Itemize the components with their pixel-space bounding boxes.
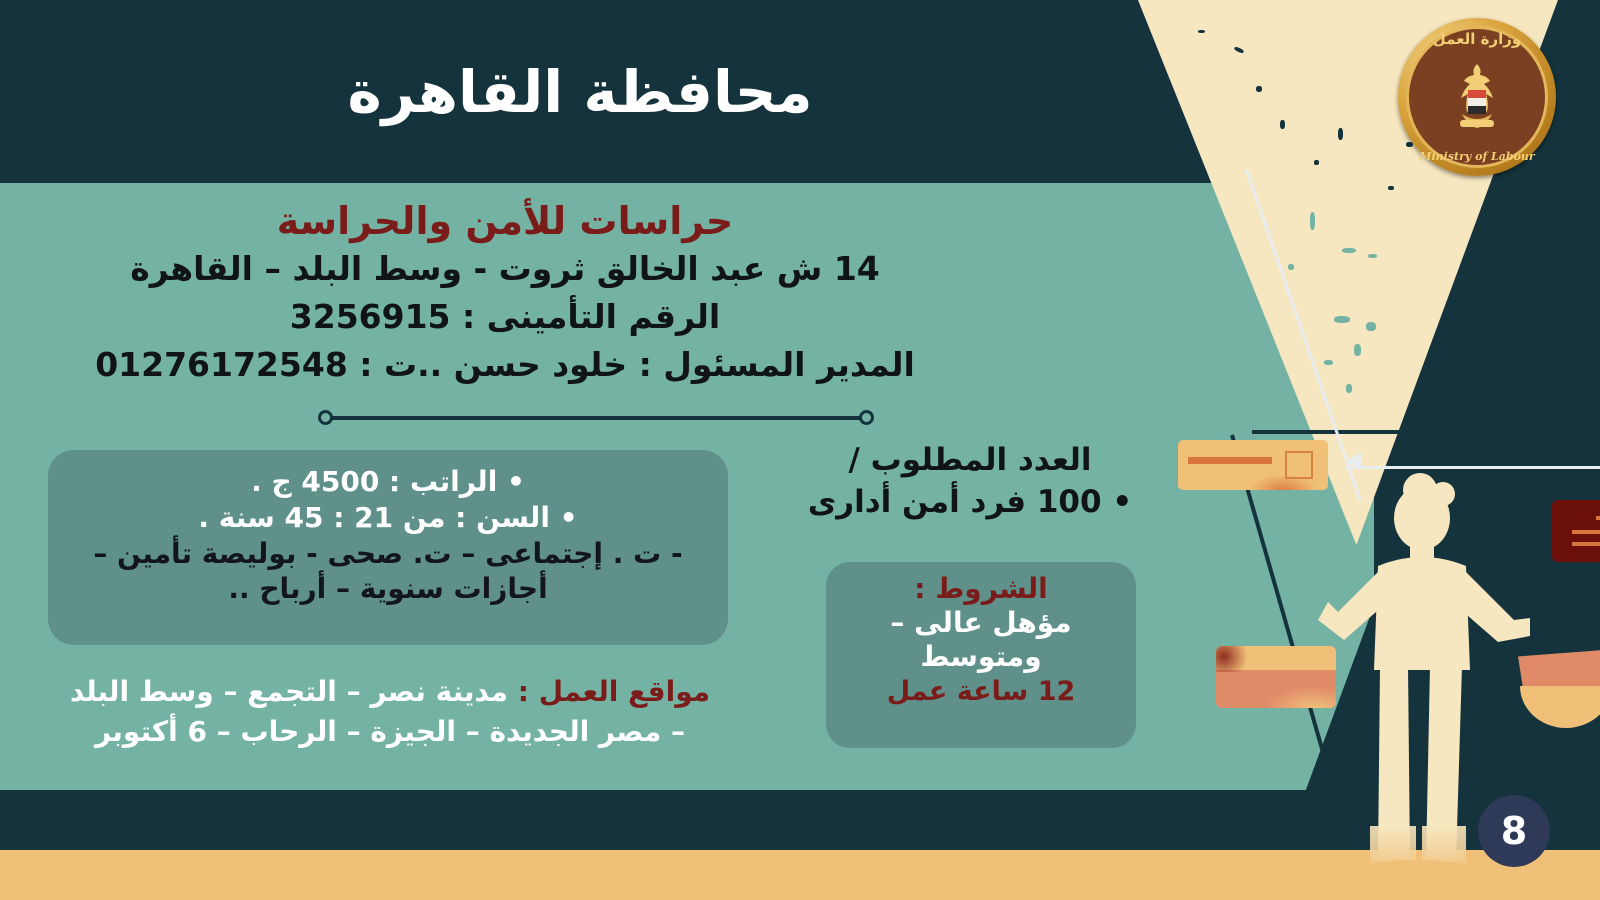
card-bar-icon bbox=[1188, 457, 1272, 464]
terms-box: الشروط : مؤهل عالى – ومتوسط 12 ساعة عمل bbox=[826, 562, 1136, 748]
card-speckle-texture bbox=[1216, 646, 1254, 672]
dark-horizontal-line-decoration bbox=[1252, 430, 1402, 434]
work-locations-line-1: مواقع العمل : مدينة نصر – التجمع – وسط ا… bbox=[40, 672, 740, 712]
job-details-box: • الراتب : 4500 ج . • السن : من 21 : 45 … bbox=[48, 450, 728, 645]
slide-root: وزارة العمل Ministry of Labour محافظة ال… bbox=[0, 0, 1600, 900]
slide-number-badge: 8 bbox=[1478, 795, 1550, 867]
section-divider bbox=[318, 410, 874, 426]
red-card-line-3 bbox=[1572, 542, 1600, 546]
detail-benefits-line-2: أجازات سنوية – أرباح .. bbox=[74, 571, 702, 607]
required-count-header: العدد المطلوب / bbox=[780, 440, 1160, 480]
detail-salary: • الراتب : 4500 ج . bbox=[74, 464, 702, 500]
red-card-line-1 bbox=[1596, 516, 1600, 520]
responsible-manager: المدير المسئول : خلود حسن ..ت : 01276172… bbox=[0, 343, 1010, 387]
terms-header: الشروط : bbox=[840, 572, 1122, 606]
work-locations-block: مواقع العمل : مدينة نصر – التجمع – وسط ا… bbox=[40, 672, 740, 752]
red-card-line-2 bbox=[1572, 530, 1600, 534]
divider-dot-right bbox=[859, 410, 874, 425]
ministry-of-labour-logo: وزارة العمل Ministry of Labour bbox=[1398, 18, 1556, 176]
required-count-block: العدد المطلوب / • 100 فرد أمن أدارى bbox=[780, 440, 1160, 524]
page-title: محافظة القاهرة bbox=[0, 0, 1160, 183]
required-count-value: • 100 فرد أمن أدارى bbox=[780, 482, 1160, 524]
terms-working-hours: 12 ساعة عمل bbox=[840, 676, 1122, 708]
divider-dot-left bbox=[318, 410, 333, 425]
work-locations-line-1-value: مدينة نصر – التجمع – وسط البلد bbox=[70, 675, 518, 708]
white-horizontal-pointer-line bbox=[1345, 466, 1600, 469]
detail-benefits-line-1: - ت . إجتماعى – ت. صحى - بوليصة تأمين – bbox=[74, 536, 702, 572]
logo-english-text: Ministry of Labour bbox=[1398, 150, 1556, 163]
logo-arabic-text: وزارة العمل bbox=[1398, 30, 1556, 48]
detail-age: • السن : من 21 : 45 سنة . bbox=[74, 500, 702, 536]
terms-line-2: ومتوسط bbox=[840, 640, 1122, 674]
dark-red-card-decoration bbox=[1552, 500, 1600, 562]
work-locations-label: مواقع العمل : bbox=[518, 675, 710, 708]
work-locations-line-2: – مصر الجديدة – الجيزة – الرحاب – 6 أكتو… bbox=[40, 712, 740, 752]
white-arrowhead-icon bbox=[1346, 452, 1362, 470]
insurance-number: الرقم التأمينى : 3256915 bbox=[0, 295, 1010, 339]
divider-rule bbox=[326, 416, 866, 420]
company-address: 14 ش عبد الخالق ثروت - وسط البلد – القاه… bbox=[0, 247, 1010, 291]
company-name: حراسات للأمن والحراسة bbox=[0, 199, 1010, 243]
employer-info-block: حراسات للأمن والحراسة 14 ش عبد الخالق ثر… bbox=[0, 183, 1010, 388]
terms-line-1: مؤهل عالى – bbox=[840, 606, 1122, 640]
eagle-of-saladin-icon bbox=[1440, 60, 1514, 134]
